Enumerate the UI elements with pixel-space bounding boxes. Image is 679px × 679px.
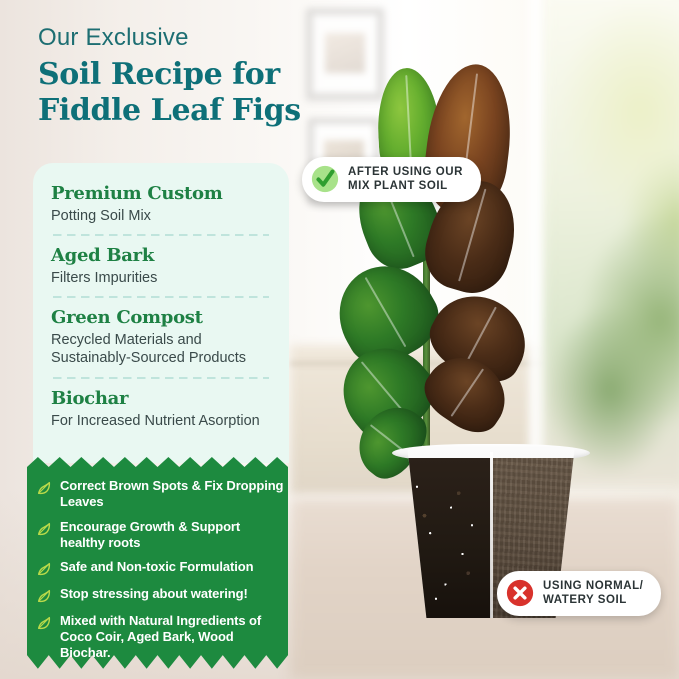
badge-label: USING NORMAL/ WATERY SOIL (543, 579, 643, 608)
list-item: Mixed with Natural Ingredients of Coco C… (36, 613, 284, 661)
title-main: Soil Recipe for Fiddle Leaf Figs (38, 57, 358, 130)
benefit-text: Mixed with Natural Ingredients of Coco C… (60, 613, 284, 661)
dashed-divider (53, 377, 269, 379)
ingredient-item: Biochar For Increased Nutrient Asorption (51, 388, 271, 430)
fiddle-leaf-fig-plant (330, 30, 630, 490)
leaf-icon (36, 561, 52, 577)
ingredient-name: Green Compost (51, 307, 271, 329)
ingredient-item: Premium Custom Potting Soil Mix (51, 183, 271, 225)
ingredient-name: Aged Bark (51, 245, 271, 267)
leaf-icon (36, 615, 52, 631)
leaf-icon (36, 480, 52, 496)
title-eyebrow: Our Exclusive (38, 24, 358, 52)
x-circle-icon (506, 579, 534, 607)
benefit-text: Correct Brown Spots & Fix Dropping Leave… (60, 478, 284, 510)
benefit-text: Safe and Non-toxic Formulation (60, 559, 253, 575)
page-title: Our Exclusive Soil Recipe for Fiddle Lea… (38, 24, 358, 130)
infographic-root: Our Exclusive Soil Recipe for Fiddle Lea… (0, 0, 679, 679)
ingredient-card: Premium Custom Potting Soil Mix Aged Bar… (33, 163, 289, 463)
dashed-divider (53, 234, 269, 236)
check-circle-icon (311, 165, 339, 193)
benefit-text: Encourage Growth & Support healthy roots (60, 519, 284, 551)
benefit-text: Stop stressing about watering! (60, 586, 248, 602)
badge-using-normal-soil: USING NORMAL/ WATERY SOIL (497, 571, 661, 616)
soil-comparison-divider (490, 452, 493, 618)
ingredient-description: Potting Soil Mix (51, 207, 271, 226)
ingredient-description: For Increased Nutrient Asorption (51, 412, 271, 431)
ingredient-description: Recycled Materials and Sustainably-Sourc… (51, 331, 271, 368)
ingredient-name: Biochar (51, 388, 271, 410)
benefits-list: Correct Brown Spots & Fix Dropping Leave… (36, 478, 284, 661)
list-item: Safe and Non-toxic Formulation (36, 559, 284, 577)
ingredient-description: Filters Impurities (51, 269, 271, 288)
ingredient-item: Green Compost Recycled Materials and Sus… (51, 307, 271, 368)
title-line-1: Soil Recipe for (38, 57, 358, 94)
dashed-divider (53, 296, 269, 298)
list-item: Stop stressing about watering! (36, 586, 284, 604)
list-item: Correct Brown Spots & Fix Dropping Leave… (36, 478, 284, 510)
badge-after-using-our-mix: AFTER USING OUR MIX PLANT SOIL (302, 157, 481, 202)
leaf-icon (36, 588, 52, 604)
badge-label: AFTER USING OUR MIX PLANT SOIL (348, 165, 463, 194)
title-line-2: Fiddle Leaf Figs (38, 93, 358, 130)
list-item: Encourage Growth & Support healthy roots (36, 519, 284, 551)
ingredient-name: Premium Custom (51, 183, 271, 205)
ingredient-item: Aged Bark Filters Impurities (51, 245, 271, 287)
leaf-icon (36, 521, 52, 537)
